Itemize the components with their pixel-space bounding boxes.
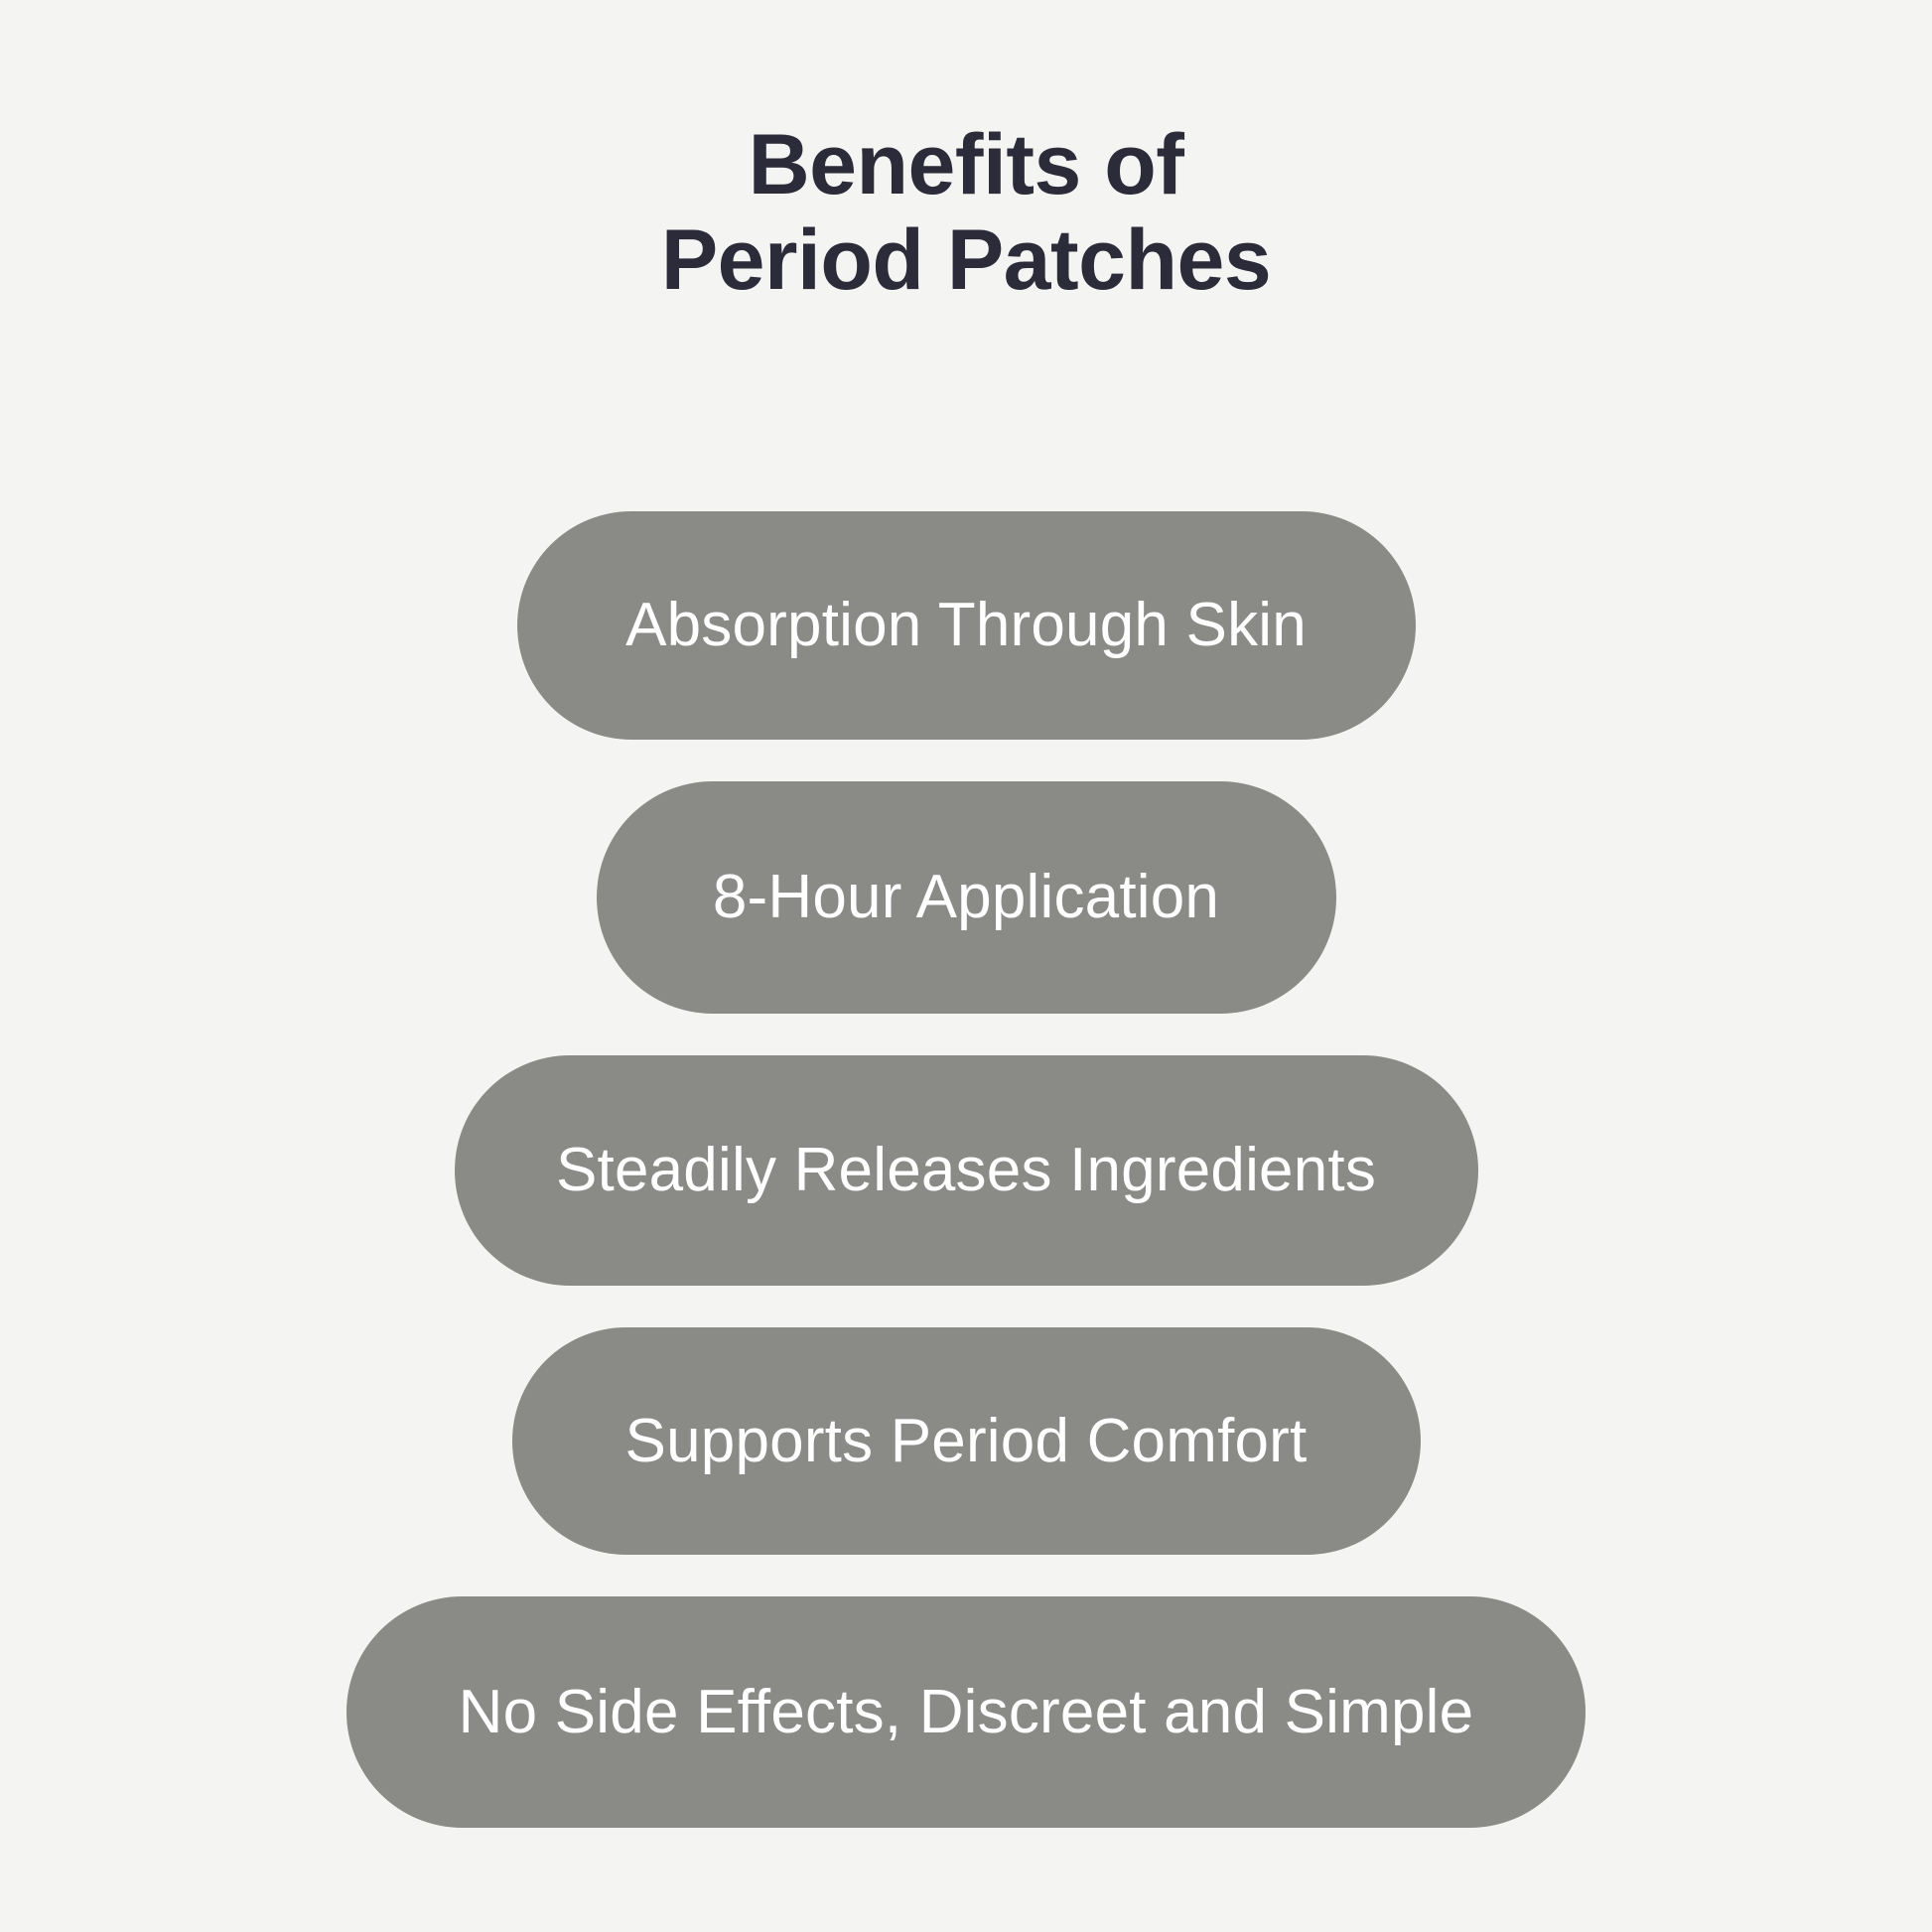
benefit-pill-supports-period-comfort[interactable]: Supports Period Comfort [512, 1327, 1421, 1555]
benefits-poster: Benefits of Period Patches Absorption Th… [0, 0, 1932, 1932]
benefit-pill-label: Supports Period Comfort [625, 1411, 1308, 1472]
benefit-pill-label: 8-Hour Application [713, 867, 1219, 928]
benefit-pill-8-hour-application[interactable]: 8-Hour Application [597, 781, 1336, 1014]
page-title-line-1: Benefits of [0, 117, 1932, 212]
page-title: Benefits of Period Patches [0, 117, 1932, 309]
benefits-list: Absorption Through Skin 8-Hour Applicati… [0, 511, 1932, 1828]
benefit-pill-label: No Side Effects, Discreet and Simple [459, 1682, 1474, 1743]
page-title-line-2: Period Patches [0, 212, 1932, 308]
benefit-pill-label: Steadily Releases Ingredients [556, 1140, 1376, 1201]
benefit-pill-steadily-releases-ingredients[interactable]: Steadily Releases Ingredients [455, 1055, 1478, 1286]
benefit-pill-no-side-effects[interactable]: No Side Effects, Discreet and Simple [346, 1596, 1586, 1828]
benefit-pill-label: Absorption Through Skin [625, 595, 1307, 656]
benefit-pill-absorption-through-skin[interactable]: Absorption Through Skin [517, 511, 1416, 740]
